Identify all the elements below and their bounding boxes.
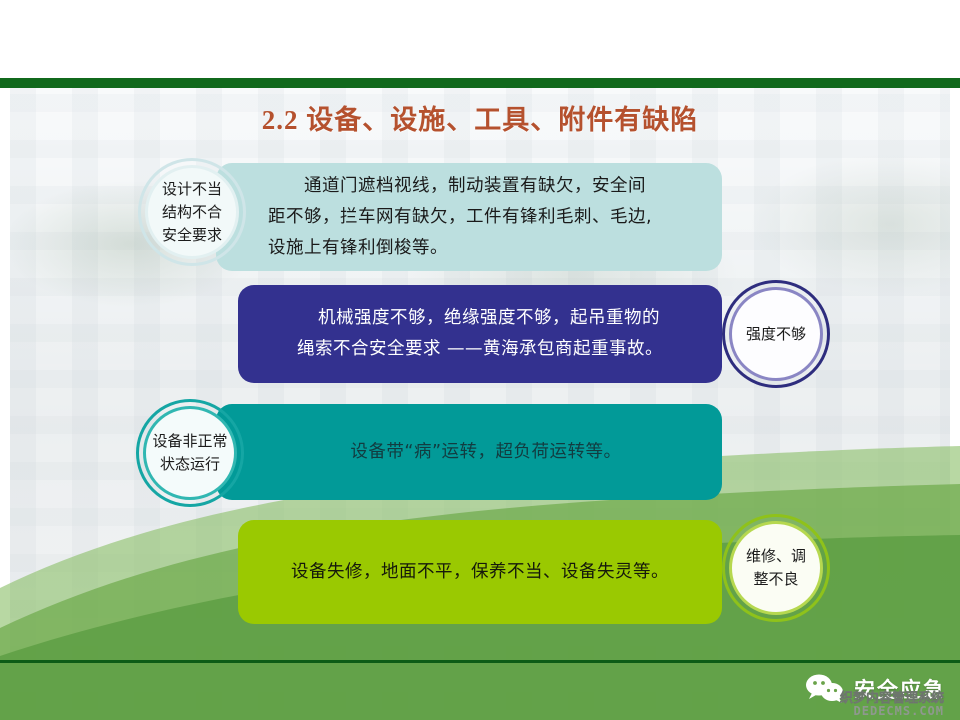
content-bar-3-text: 设备带“病”运转，超负荷运转等。 (268, 437, 704, 468)
content-bar-3: 设备带“病”运转，超负荷运转等。 (216, 404, 722, 500)
content-bar-2: 机械强度不够，绝缘强度不够，起吊重物的 绳索不合安全要求 ——黄海承包商起重事故… (238, 285, 722, 383)
watermark: 织梦内容管理系统 DEDECMS.COM (840, 692, 944, 718)
category-badge-design-defect[interactable]: 设计不当 结构不合 安全要求 (138, 158, 246, 266)
category-badge-4-label: 维修、调 整不良 (746, 545, 806, 591)
content-bar-2-text: 机械强度不够，绝缘强度不够，起吊重物的 绳索不合安全要求 ——黄海承包商起重事故… (262, 303, 698, 365)
category-badge-abnormal-operation[interactable]: 设备非正常 状态运行 (136, 399, 244, 507)
content-bar-1: 通道门遮档视线，制动装置有缺欠，安全间 距不够，拦车网有缺欠，工件有锋利毛刺、毛… (216, 163, 722, 271)
content-bar-1-text: 通道门遮档视线，制动装置有缺欠，安全间 距不够，拦车网有缺欠，工件有锋利毛刺、毛… (268, 171, 704, 264)
footer-divider-line (0, 660, 960, 663)
category-badge-2-label: 强度不够 (746, 323, 806, 346)
category-badge-insufficient-strength[interactable]: 强度不够 (722, 280, 830, 388)
content-bar-4-text: 设备失修，地面不平，保养不当、设备失灵等。 (262, 557, 698, 588)
category-badge-poor-maintenance[interactable]: 维修、调 整不良 (722, 514, 830, 622)
category-badge-1-label: 设计不当 结构不合 安全要求 (162, 178, 222, 247)
presentation-slide: 2.2 设备、设施、工具、附件有缺陷 通道门遮档视线，制动装置有缺欠，安全间 距… (0, 0, 960, 720)
content-bar-4: 设备失修，地面不平，保养不当、设备失灵等。 (238, 520, 722, 624)
header-green-bar (0, 78, 960, 88)
page-title: 2.2 设备、设施、工具、附件有缺陷 (0, 98, 960, 137)
category-badge-3-label: 设备非正常 状态运行 (152, 430, 227, 476)
watermark-en: DEDECMS.COM (840, 705, 944, 718)
